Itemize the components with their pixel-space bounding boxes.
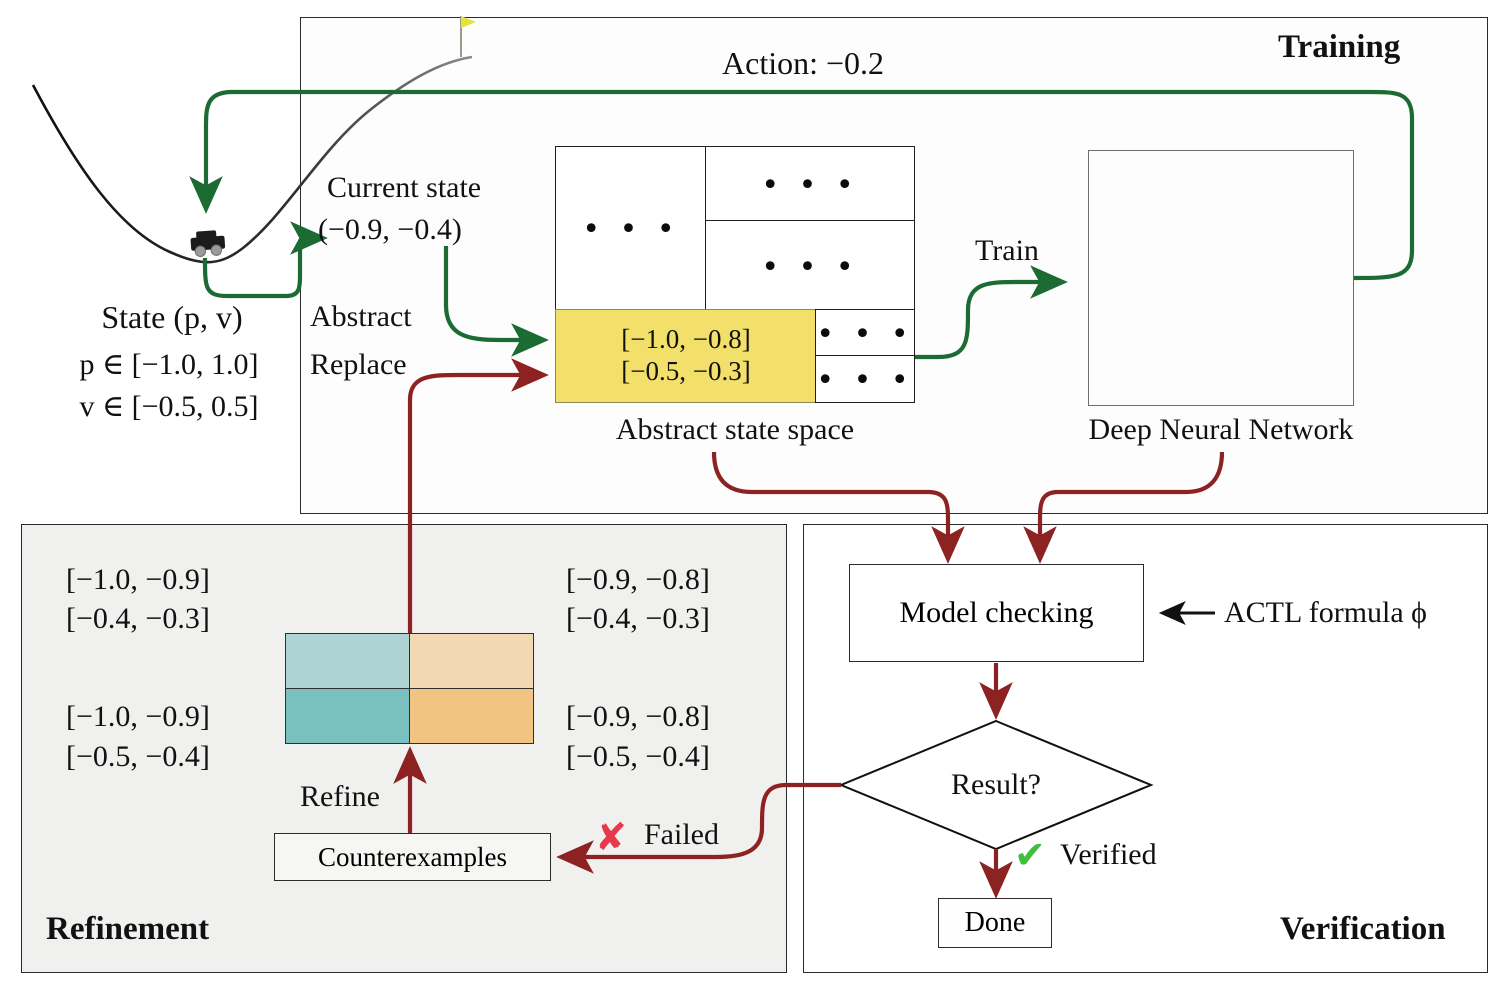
result-label: Result?	[916, 768, 1076, 802]
refined-tl-position: [−1.0, −0.9]	[66, 563, 210, 597]
verification-title: Verification	[1280, 911, 1446, 948]
counterexamples-label: Counterexamples	[318, 842, 507, 873]
current-state-label: Current state	[327, 171, 481, 205]
abstract-cell-d: • • •	[815, 309, 915, 357]
model-checking-label: Model checking	[899, 596, 1093, 630]
refined-bl-position: [−1.0, −0.9]	[66, 700, 210, 734]
failed-label: Failed	[644, 818, 719, 852]
highlighted-position-interval: [−1.0, −0.8]	[556, 324, 816, 356]
replace-label: Replace	[310, 348, 407, 382]
abstract-cell-a: • • •	[555, 146, 707, 311]
refined-cell-bottom-right[interactable]	[409, 688, 534, 744]
refine-label: Refine	[300, 780, 380, 814]
counterexamples-box[interactable]: Counterexamples	[274, 833, 551, 881]
refined-cell-bottom-left[interactable]	[285, 688, 410, 744]
abstract-cell-c: • • •	[705, 220, 915, 311]
state-velocity-range: v ∈ [−0.5, 0.5]	[44, 390, 294, 424]
mountain-car-icon	[190, 230, 226, 258]
verified-label: Verified	[1060, 838, 1157, 872]
current-state-value: (−0.9, −0.4)	[318, 213, 462, 247]
check-icon: ✔	[1014, 833, 1046, 877]
abstract-label: Abstract	[310, 300, 412, 334]
model-checking-box[interactable]: Model checking	[849, 564, 1144, 662]
refined-bl-velocity: [−0.5, −0.4]	[66, 740, 210, 774]
refined-tr-position: [−0.9, −0.8]	[566, 563, 710, 597]
actl-formula-label: ACTL formula ϕ	[1224, 596, 1427, 630]
cross-icon: ✘	[595, 815, 627, 859]
ellipsis-c: • • •	[706, 253, 914, 283]
state-label: State (p, v)	[52, 300, 292, 336]
ellipsis-a: • • •	[556, 215, 706, 245]
ellipsis-e: • • •	[816, 366, 914, 396]
refined-tr-velocity: [−0.4, −0.3]	[566, 602, 710, 636]
train-label: Train	[975, 234, 1039, 268]
deep-neural-network-box	[1088, 150, 1354, 406]
abstract-cell-e: • • •	[815, 355, 915, 403]
done-box[interactable]: Done	[938, 898, 1052, 948]
state-position-range: p ∈ [−1.0, 1.0]	[44, 348, 294, 382]
ellipsis-d: • • •	[816, 320, 914, 350]
refined-abstract-cells	[285, 633, 534, 744]
refined-cell-top-left[interactable]	[285, 633, 410, 689]
refinement-title: Refinement	[46, 911, 209, 948]
figure-canvas: • • • • • • • • • [−1.0, −0.8] [−0.5, −0…	[0, 0, 1505, 982]
refined-br-position: [−0.9, −0.8]	[566, 700, 710, 734]
dnn-caption: Deep Neural Network	[1058, 413, 1384, 447]
abstract-cell-b: • • •	[705, 146, 915, 222]
ellipsis-b: • • •	[706, 171, 914, 201]
abstract-state-space: • • • • • • • • • [−1.0, −0.8] [−0.5, −0…	[555, 146, 915, 403]
abstract-state-space-caption: Abstract state space	[555, 413, 915, 447]
refined-cell-top-right[interactable]	[409, 633, 534, 689]
refined-tl-velocity: [−0.4, −0.3]	[66, 602, 210, 636]
done-label: Done	[965, 907, 1026, 939]
abstract-cell-highlighted[interactable]: [−1.0, −0.8] [−0.5, −0.3]	[555, 309, 817, 403]
training-title: Training	[1278, 29, 1400, 66]
highlighted-velocity-interval: [−0.5, −0.3]	[556, 356, 816, 388]
refined-br-velocity: [−0.5, −0.4]	[566, 740, 710, 774]
action-label: Action: −0.2	[722, 46, 884, 82]
